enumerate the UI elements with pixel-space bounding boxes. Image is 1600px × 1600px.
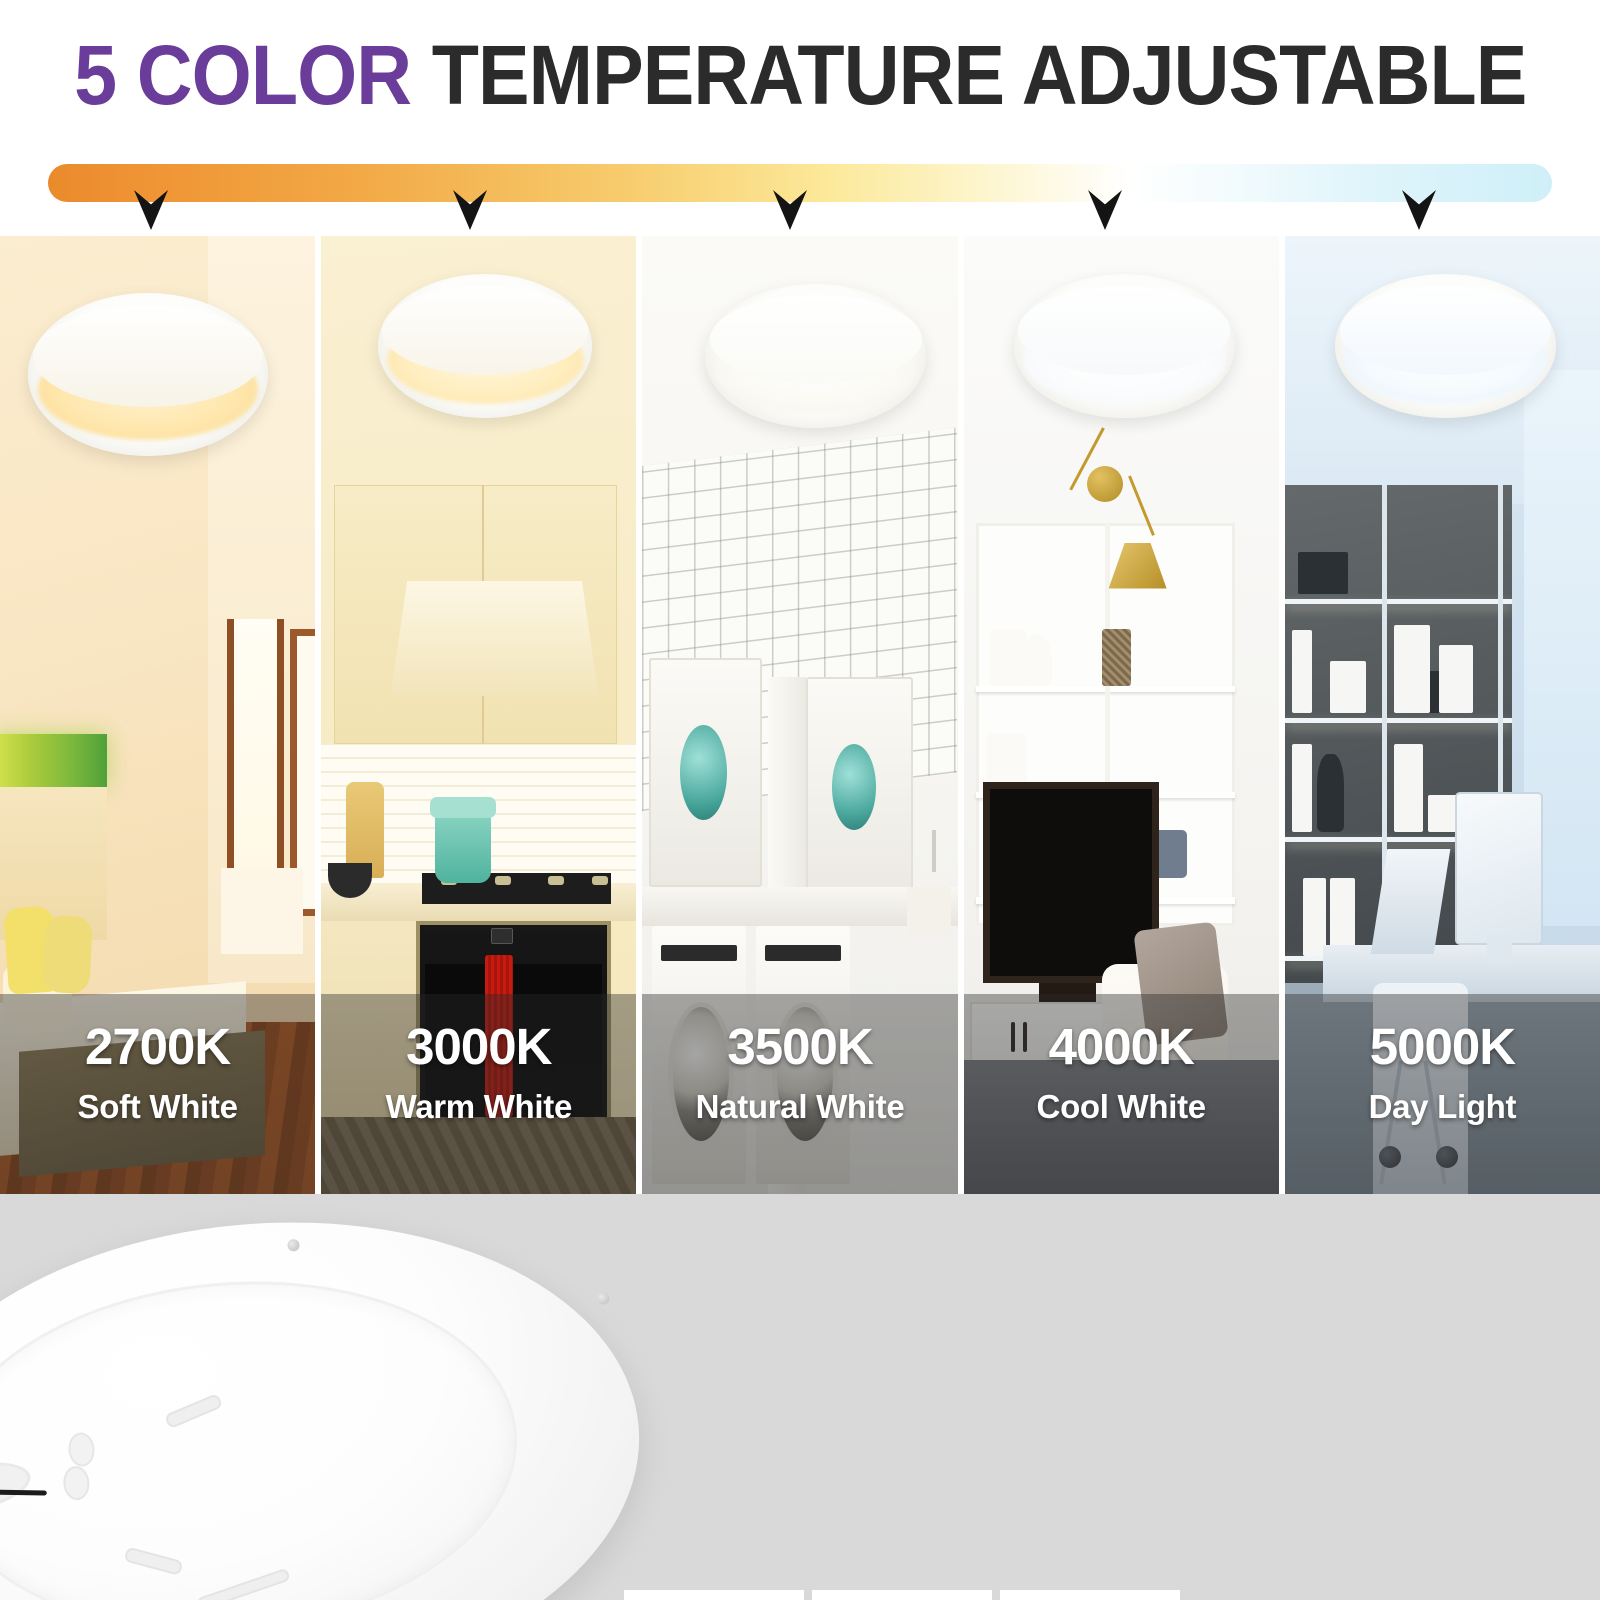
ceiling-lamp-icon	[1335, 274, 1556, 418]
panel-2700k[interactable]: 2700K Soft White	[0, 236, 315, 1194]
panel-kelvin: 2700K	[85, 1020, 230, 1074]
color-temperature-gradient-bar	[0, 150, 1600, 235]
next-card-3	[1000, 1590, 1180, 1600]
ceiling-lamp-icon	[378, 274, 592, 418]
panel-label-3000k: 3000K Warm White	[321, 994, 636, 1194]
panel-label-4000k: 4000K Cool White	[964, 994, 1279, 1194]
ceiling-lamp-icon	[28, 293, 268, 456]
toggle-switch-section: 5000K 4000K 3500K 3000K 2700K Toggle Swi…	[0, 1194, 1600, 1600]
panel-3500k[interactable]: 3500K Natural White	[642, 236, 957, 1194]
panel-name: Cool White	[1037, 1088, 1206, 1126]
panel-name: Soft White	[78, 1088, 238, 1126]
panel-name: Day Light	[1369, 1088, 1517, 1126]
panel-name: Natural White	[696, 1088, 905, 1126]
panel-kelvin: 3500K	[727, 1020, 872, 1074]
panel-kelvin: 3000K	[406, 1020, 551, 1074]
panel-4000k[interactable]: 4000K Cool White	[964, 236, 1279, 1194]
ceiling-lamp-icon	[1014, 274, 1235, 418]
panel-label-2700k: 2700K Soft White	[0, 994, 315, 1194]
panel-3000k[interactable]: 3000K Warm White	[321, 236, 636, 1194]
panel-5000k[interactable]: 5000K Day Light	[1285, 236, 1600, 1194]
next-section-peek	[0, 1590, 1600, 1600]
header: 5 COLOR TEMPERATURE ADJUSTABLE	[0, 0, 1600, 150]
page-title-accent: 5 COLOR	[74, 28, 411, 122]
next-card-1	[624, 1590, 804, 1600]
page-title-rest: TEMPERATURE ADJUSTABLE	[411, 28, 1526, 122]
ceiling-light-back-plate	[0, 1194, 659, 1600]
panel-label-3500k: 3500K Natural White	[642, 994, 957, 1194]
panel-kelvin: 5000K	[1370, 1020, 1515, 1074]
color-temperature-panel-row: 2700K Soft White	[0, 236, 1600, 1194]
page-title: 5 COLOR TEMPERATURE ADJUSTABLE	[74, 33, 1526, 117]
panel-kelvin: 4000K	[1049, 1020, 1194, 1074]
next-card-2	[812, 1590, 992, 1600]
ceiling-lamp-icon	[705, 284, 926, 428]
panel-name: Warm White	[386, 1088, 572, 1126]
panel-label-5000k: 5000K Day Light	[1285, 994, 1600, 1194]
